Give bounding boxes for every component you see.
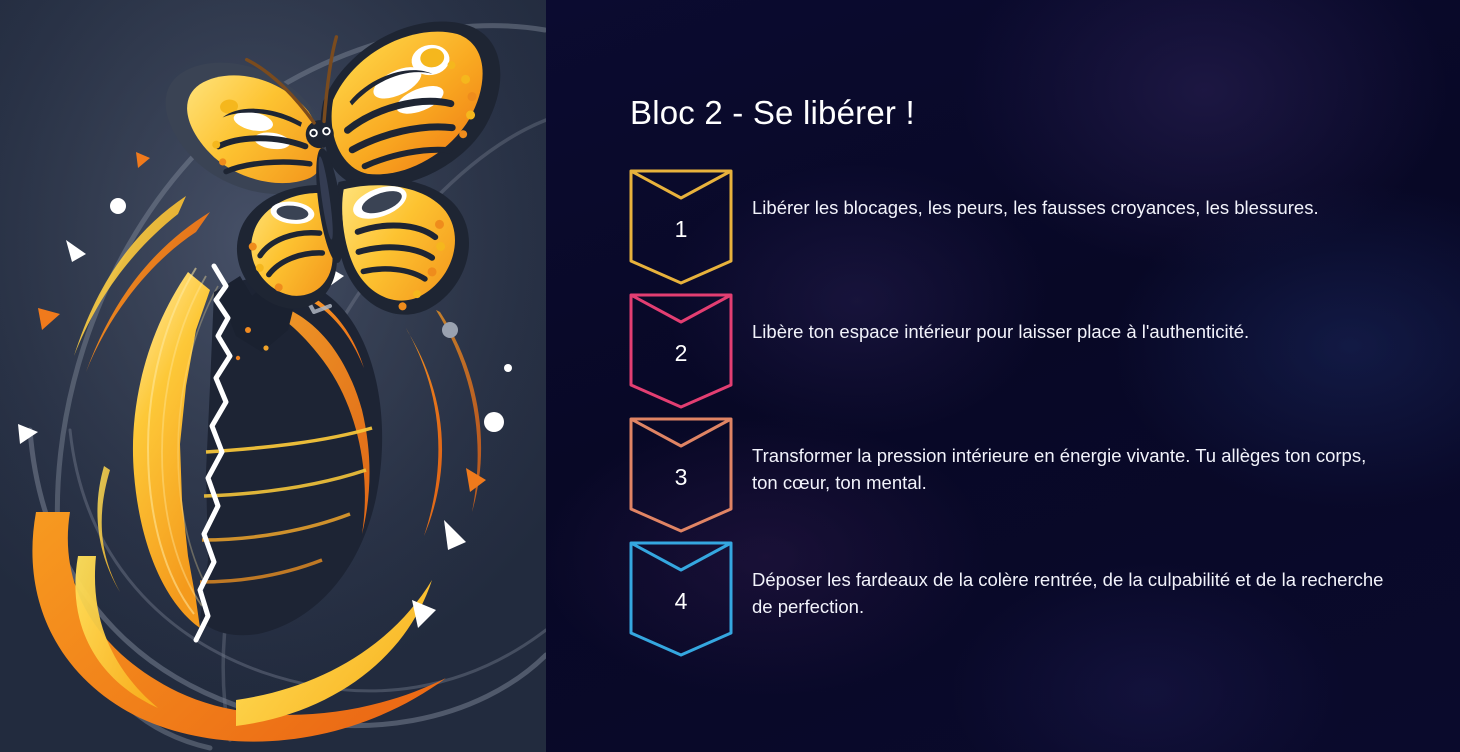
- chevron-outline-icon: [628, 168, 734, 286]
- chevron-body-2: [631, 295, 731, 407]
- chevron-notch-4: [631, 543, 731, 570]
- step-text: Libérer les blocages, les peurs, les fau…: [752, 194, 1392, 221]
- chevron-notch-1: [631, 171, 731, 198]
- page-title: Bloc 2 - Se libérer !: [630, 94, 915, 132]
- butterfly-chrysalis-illustration: [0, 0, 546, 752]
- steps-list: 1 Libérer les blocages, les peurs, les f…: [546, 168, 1460, 664]
- step-badge-2: 2: [628, 292, 734, 410]
- list-item[interactable]: 4 Déposer les fardeaux de la colère rent…: [546, 540, 1460, 664]
- slide-root: Bloc 2 - Se libérer ! 1 Libérer les bloc…: [0, 0, 1460, 752]
- illustration-panel: [0, 0, 546, 752]
- content-panel: Bloc 2 - Se libérer ! 1 Libérer les bloc…: [546, 0, 1460, 752]
- chevron-body-3: [631, 419, 731, 531]
- step-badge-4: 4: [628, 540, 734, 658]
- chevron-body-1: [631, 171, 731, 283]
- chevron-outline-icon: [628, 292, 734, 410]
- step-text: Transformer la pression intérieure en én…: [752, 442, 1392, 496]
- step-text: Déposer les fardeaux de la colère rentré…: [752, 566, 1392, 620]
- step-text: Libère ton espace intérieur pour laisser…: [752, 318, 1392, 345]
- chevron-notch-3: [631, 419, 731, 446]
- chevron-body-4: [631, 543, 731, 655]
- list-item[interactable]: 2 Libère ton espace intérieur pour laiss…: [546, 292, 1460, 416]
- chevron-outline-icon: [628, 540, 734, 658]
- chevron-outline-icon: [628, 416, 734, 534]
- list-item[interactable]: 3 Transformer la pression intérieure en …: [546, 416, 1460, 540]
- chevron-notch-2: [631, 295, 731, 322]
- step-badge-3: 3: [628, 416, 734, 534]
- list-item[interactable]: 1 Libérer les blocages, les peurs, les f…: [546, 168, 1460, 292]
- step-badge-1: 1: [628, 168, 734, 286]
